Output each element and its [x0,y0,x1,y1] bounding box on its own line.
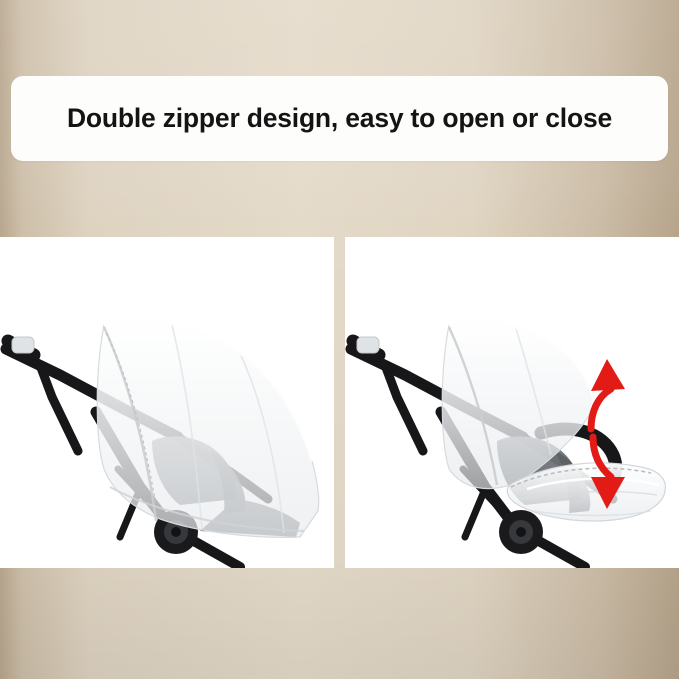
stroller-illustration-open [345,237,679,568]
caption-banner: Double zipper design, easy to open or cl… [11,76,668,161]
panel-closed [0,237,334,568]
net-clip [357,337,379,353]
stroller-illustration-closed [0,237,334,568]
photo-panels [0,237,679,568]
net-clip [12,337,34,353]
stroller-wheel [499,510,543,554]
product-infographic: Double zipper design, easy to open or cl… [0,0,679,679]
panel-open [345,237,679,568]
caption-text: Double zipper design, easy to open or cl… [67,103,612,134]
